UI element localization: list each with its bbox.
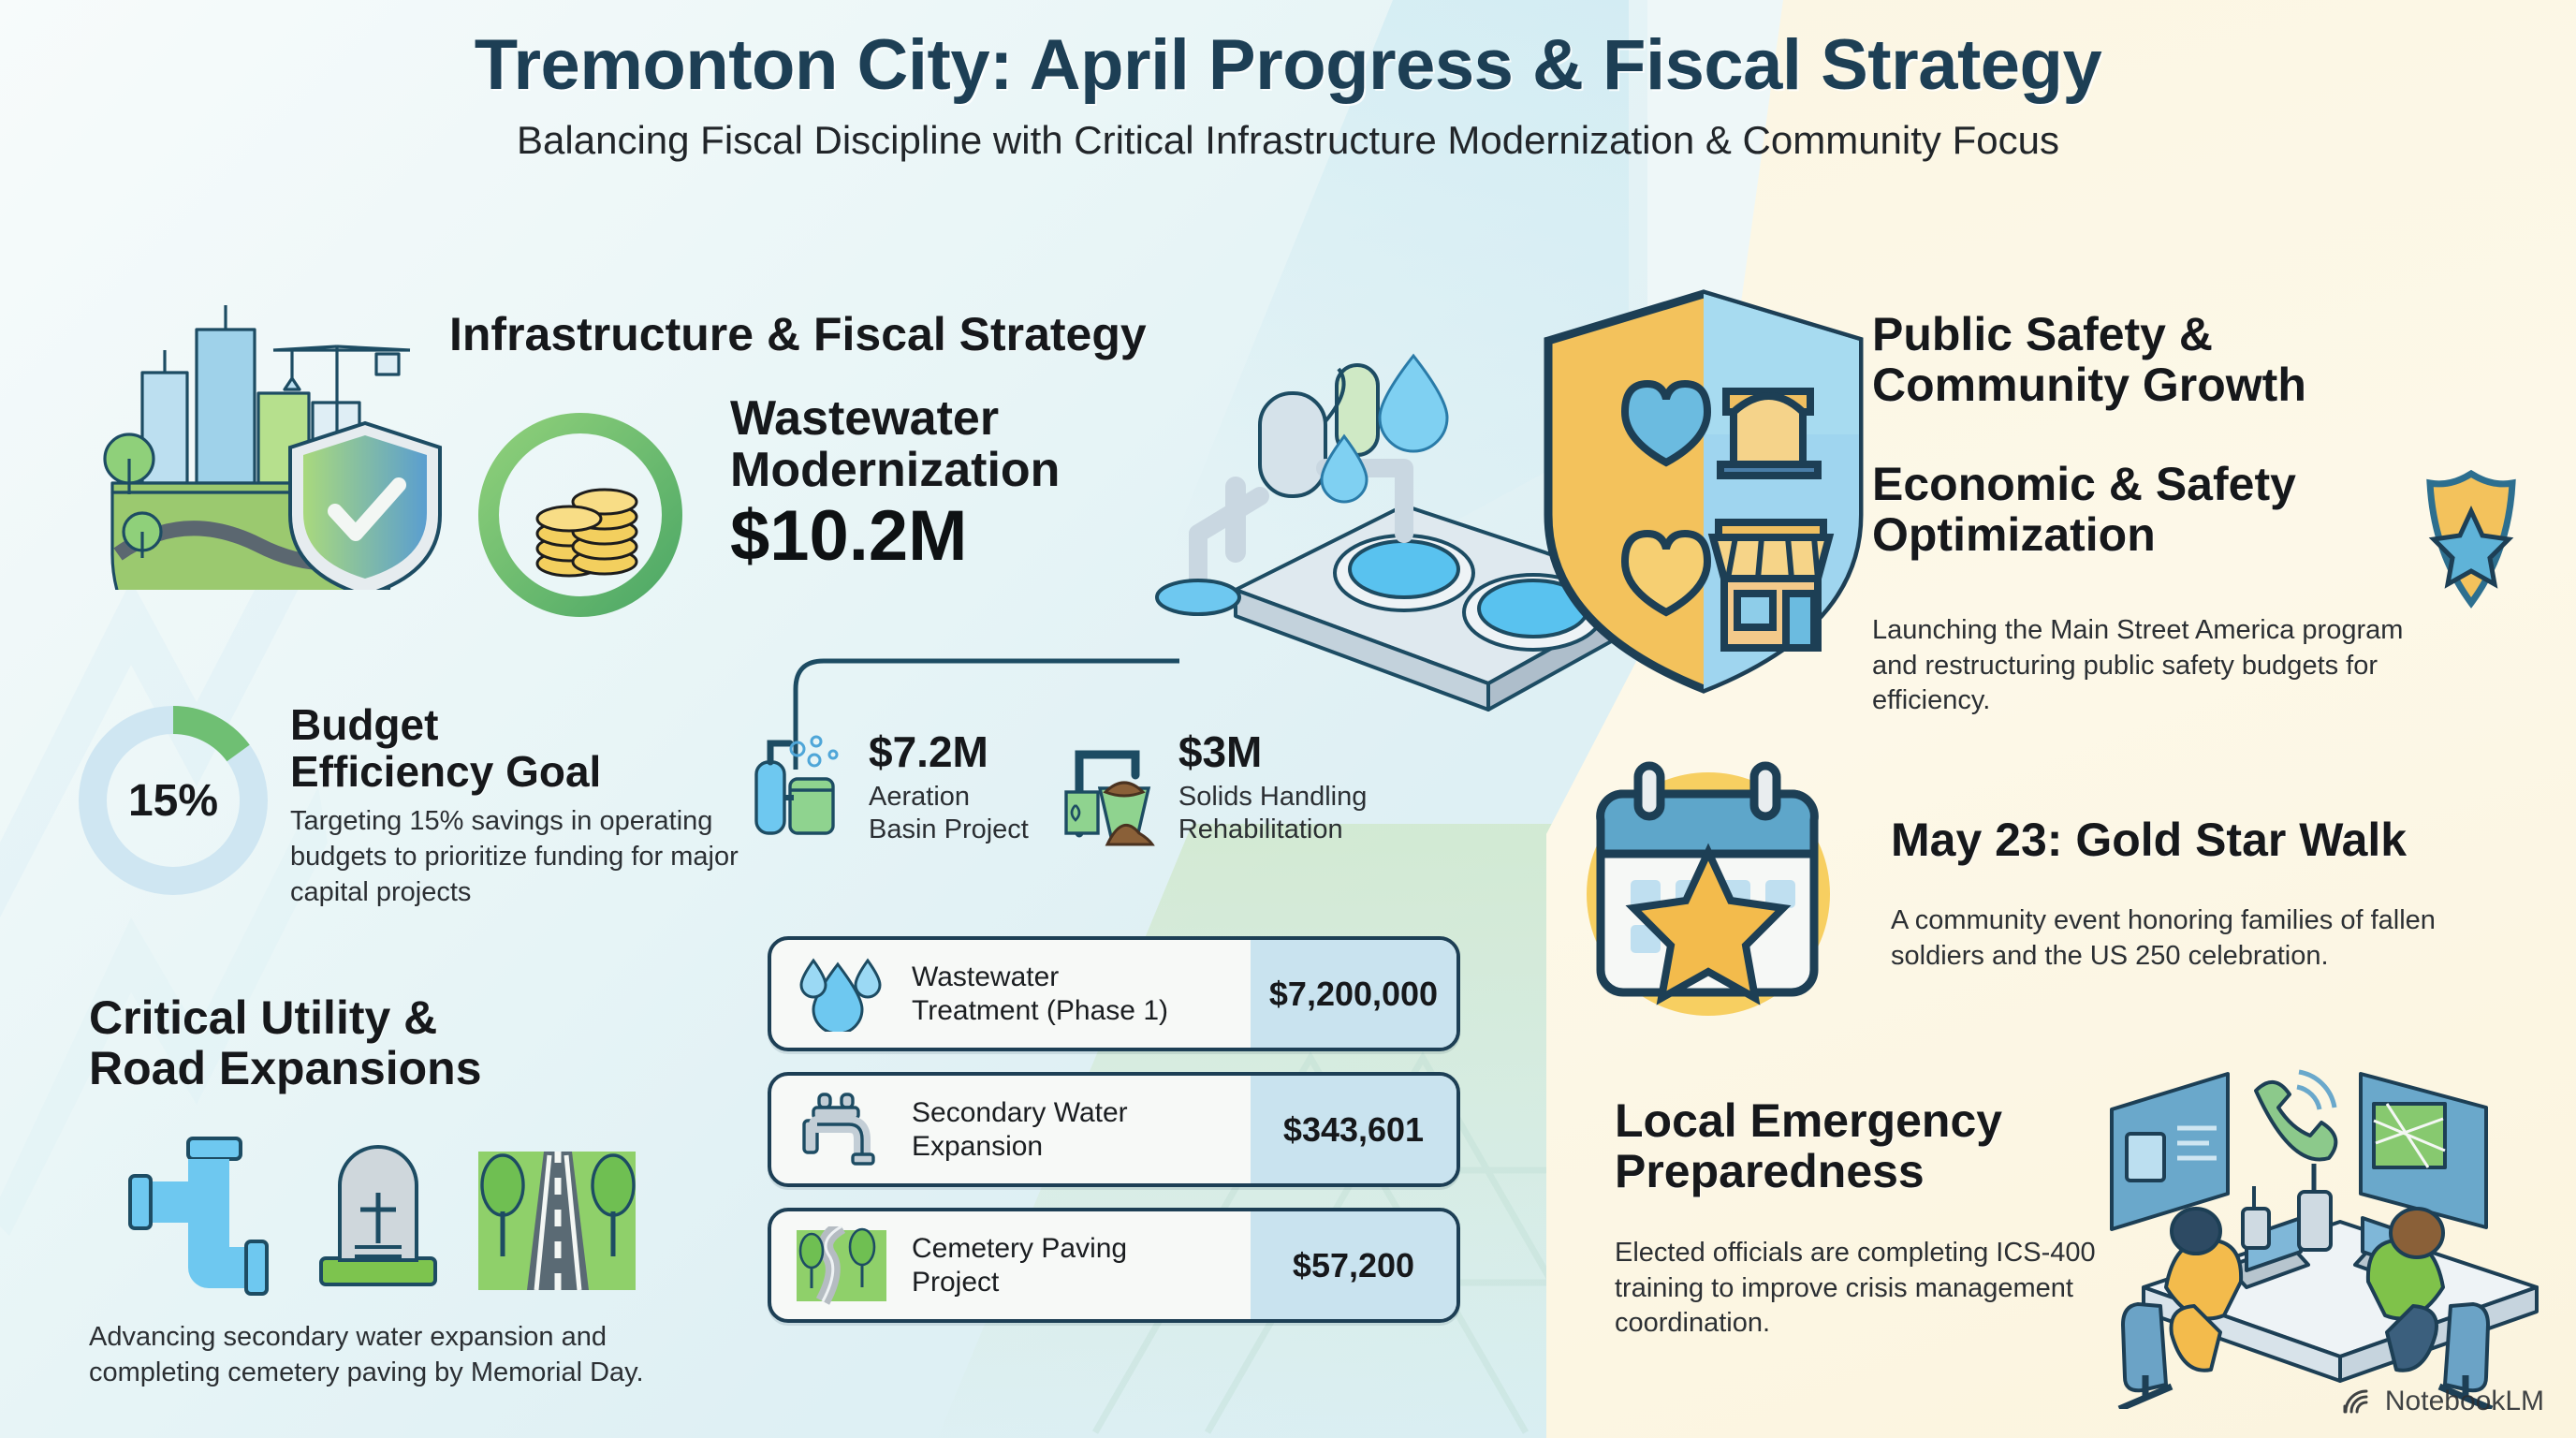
budget-heading-line1: Budget <box>290 702 739 749</box>
subitem-label-line2: Basin Project <box>869 814 1029 846</box>
public-safety-heading-line1: Public Safety & <box>1872 309 2452 359</box>
notebooklm-logo-icon <box>2342 1387 2374 1416</box>
water-drops-decoration <box>1310 346 1470 515</box>
critical-utility-block: Critical Utility & Road Expansions <box>89 992 707 1390</box>
police-badge-icon <box>2406 468 2537 609</box>
project-name-cell: Cemetery Paving Project <box>912 1211 1251 1319</box>
cemetery-road-icon <box>771 1211 912 1319</box>
project-name-line1: Wastewater <box>912 961 1059 992</box>
emergency-body-text: Elected officials are completing ICS-400… <box>1615 1236 2101 1342</box>
utility-icon-row <box>115 1118 707 1296</box>
notebooklm-label: NotebookLM <box>2385 1386 2544 1417</box>
project-name-line2: Expansion <box>912 1131 1043 1162</box>
subitem-label-line2: Rehabilitation <box>1178 814 1368 846</box>
project-name-line1: Cemetery Paving <box>912 1233 1127 1264</box>
economic-heading-block: Economic & Safety Optimization <box>1872 459 2359 560</box>
economic-heading-line2: Optimization <box>1872 509 2359 560</box>
public-safety-heading-line2: Community Growth <box>1872 359 2452 410</box>
emergency-heading-block: Local Emergency Preparedness <box>1615 1095 2101 1196</box>
wastewater-subitems: $7.2M Aeration Basin Project $3M <box>749 730 1526 852</box>
emergency-operations-illustration <box>2106 1053 2574 1409</box>
public-safety-heading-block: Public Safety & Community Growth <box>1872 309 2452 410</box>
gold-star-heading: May 23: Gold Star Walk <box>1891 814 2527 865</box>
headstone-icon <box>308 1118 448 1296</box>
project-name-line1: Secondary Water <box>912 1097 1128 1128</box>
subitem-label-line1: Aeration <box>869 781 1029 814</box>
budget-efficiency-donut: 15% <box>66 693 281 908</box>
infrastructure-section-heading: Infrastructure & Fiscal Strategy <box>449 309 1292 359</box>
table-row[interactable]: Secondary Water Expansion $343,601 <box>768 1072 1460 1187</box>
infrastructure-section-heading-wrap: Infrastructure & Fiscal Strategy <box>449 309 1292 359</box>
utility-heading-line1: Critical Utility & <box>89 992 707 1043</box>
budget-efficiency-block: Budget Efficiency Goal Targeting 15% sav… <box>290 702 739 910</box>
gold-star-body-text: A community event honoring families of f… <box>1891 903 2527 974</box>
page-title: Tremonton City: April Progress & Fiscal … <box>0 28 2576 104</box>
project-cost-table: Wastewater Treatment (Phase 1) $7,200,00… <box>768 936 1460 1343</box>
economic-heading-line1: Economic & Safety <box>1872 459 2359 509</box>
subitem-label-line1: Solids Handling <box>1178 781 1368 814</box>
project-amount-cell: $57,200 <box>1251 1211 1456 1319</box>
subitem-amount: $3M <box>1178 730 1368 773</box>
calendar-star-icon <box>1563 740 1853 1030</box>
budget-percent-label: 15% <box>66 693 281 908</box>
pipe-icon <box>115 1118 284 1296</box>
page-subtitle: Balancing Fiscal Discipline with Critica… <box>0 119 2576 162</box>
city-skyline-illustration <box>56 281 449 590</box>
economic-body-text: Launching the Main Street America progra… <box>1872 613 2434 719</box>
project-name-cell: Wastewater Treatment (Phase 1) <box>912 940 1251 1048</box>
utility-heading-line2: Road Expansions <box>89 1043 707 1093</box>
solids-handling-icon <box>1059 730 1162 852</box>
project-name-cell: Secondary Water Expansion <box>912 1076 1251 1183</box>
water-drops-icon <box>771 940 912 1048</box>
budget-body-text: Targeting 15% savings in operating budge… <box>290 804 739 910</box>
subitem-solids: $3M Solids Handling Rehabilitation <box>1059 730 1368 852</box>
road-icon <box>473 1118 641 1296</box>
emergency-heading-line2: Preparedness <box>1615 1146 2101 1196</box>
budget-heading-line2: Efficiency Goal <box>290 749 739 796</box>
project-amount-cell: $7,200,000 <box>1251 940 1456 1048</box>
notebooklm-watermark: NotebookLM <box>2342 1386 2544 1417</box>
aeration-basin-icon <box>749 730 852 852</box>
subitem-amount: $7.2M <box>869 730 1029 773</box>
subitem-aeration: $7.2M Aeration Basin Project <box>749 730 1029 852</box>
utility-body-text: Advancing secondary water expansion and … <box>89 1320 707 1390</box>
project-name-line2: Treatment (Phase 1) <box>912 995 1168 1026</box>
infographic-header: Tremonton City: April Progress & Fiscal … <box>0 28 2576 162</box>
community-shield-icon <box>1526 281 1881 702</box>
savings-coins-icon <box>468 403 693 627</box>
project-name-line2: Project <box>912 1267 999 1298</box>
table-row[interactable]: Wastewater Treatment (Phase 1) $7,200,00… <box>768 936 1460 1051</box>
project-amount-cell: $343,601 <box>1251 1076 1456 1183</box>
faucet-icon <box>771 1076 912 1183</box>
emergency-heading-line1: Local Emergency <box>1615 1095 2101 1146</box>
table-row[interactable]: Cemetery Paving Project $57,200 <box>768 1208 1460 1323</box>
